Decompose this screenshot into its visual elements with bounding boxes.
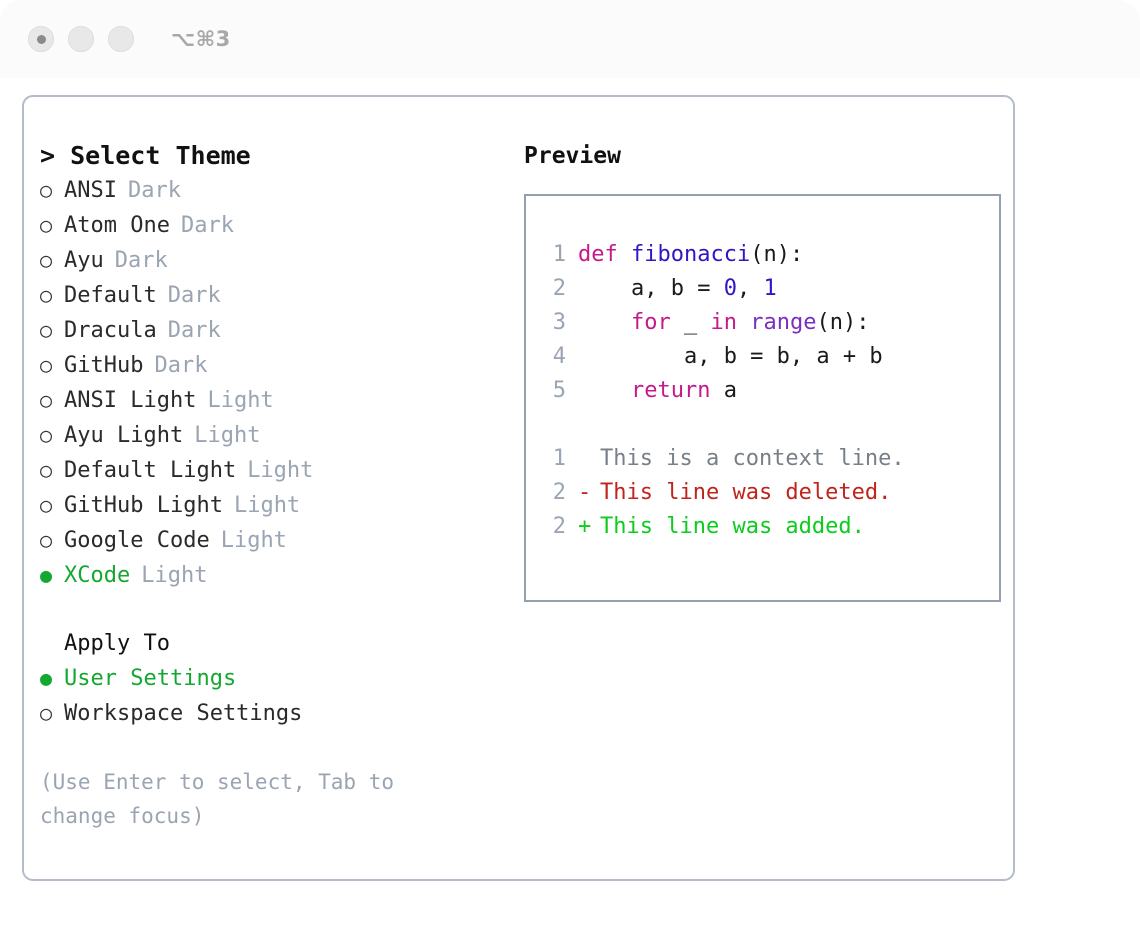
radio-unselected-icon[interactable]: ○	[40, 208, 64, 242]
code-token-num: 1	[763, 276, 776, 301]
code-sample: 1def fibonacci(n):2 a, b = 0, 13 for _ i…	[538, 238, 999, 408]
code-token-num: 0	[724, 276, 737, 301]
theme-category-label: Light	[207, 384, 273, 418]
code-line-content: for _ in range(n):	[578, 306, 869, 340]
plain-dot-icon-2[interactable]	[68, 26, 94, 52]
code-token-fn: fibonacci	[631, 242, 750, 267]
radio-unselected-icon[interactable]: ○	[40, 488, 64, 522]
theme-name-label: ANSI Light	[64, 384, 196, 418]
code-token-plain	[737, 310, 750, 335]
preview-column: Preview 1def fibonacci(n):2 a, b = 0, 13…	[495, 139, 1013, 879]
theme-name-label: GitHub	[64, 349, 143, 383]
theme-category-label: Dark	[154, 349, 207, 383]
theme-option-row[interactable]: ○DraculaDark	[40, 313, 495, 348]
code-line-content: return a	[578, 374, 737, 408]
code-line: 5 return a	[538, 374, 999, 408]
diff-line-text: This is a context line.	[600, 442, 905, 476]
diff-line: 1 This is a context line.	[538, 442, 999, 476]
diff-line: 2+This line was added.	[538, 510, 999, 544]
window-controls	[28, 26, 134, 52]
theme-option-row[interactable]: ○Google CodeLight	[40, 523, 495, 558]
theme-option-row[interactable]: ○GitHubDark	[40, 348, 495, 383]
theme-name-label: ANSI	[64, 174, 117, 208]
theme-selector-column: > Select Theme ○ANSIDark○Atom OneDark○Ay…	[40, 139, 495, 879]
theme-name-label: Ayu Light	[64, 419, 183, 453]
code-token-plain: ,	[737, 276, 764, 301]
theme-option-row[interactable]: ○Ayu LightLight	[40, 418, 495, 453]
code-line-number: 3	[538, 306, 566, 340]
theme-name-label: Google Code	[64, 524, 210, 558]
diff-line-number: 2	[538, 510, 566, 544]
code-line: 1def fibonacci(n):	[538, 238, 999, 272]
code-token-kw: def	[578, 242, 631, 267]
theme-option-row[interactable]: ○GitHub LightLight	[40, 488, 495, 523]
radio-unselected-icon[interactable]: ○	[40, 383, 64, 417]
apply-to-heading: Apply To	[40, 627, 495, 661]
code-line-content: a, b = 0, 1	[578, 272, 777, 306]
diff-sample: 1 This is a context line.2-This line was…	[538, 442, 999, 544]
code-line-content: a, b = b, a + b	[578, 340, 883, 374]
theme-option-row[interactable]: ○Atom OneDark	[40, 208, 495, 243]
code-line-number: 2	[538, 272, 566, 306]
radio-unselected-icon[interactable]: ○	[40, 418, 64, 452]
theme-option-row[interactable]: ○AyuDark	[40, 243, 495, 278]
theme-option-row[interactable]: ○ANSI LightLight	[40, 383, 495, 418]
code-line: 2 a, b = 0, 1	[538, 272, 999, 306]
plain-dot-icon-3[interactable]	[108, 26, 134, 52]
radio-unselected-icon[interactable]: ○	[40, 348, 64, 382]
code-line-number: 5	[538, 374, 566, 408]
record-dot-inner-icon	[37, 35, 46, 44]
diff-marker	[578, 442, 600, 476]
record-dot-icon[interactable]	[28, 26, 54, 52]
app-window: ⌥⌘3 > Select Theme ○ANSIDark○Atom OneDar…	[0, 0, 1140, 934]
radio-unselected-icon[interactable]: ○	[40, 313, 64, 347]
radio-unselected-icon[interactable]: ○	[40, 696, 64, 730]
theme-name-label: XCode	[64, 559, 130, 593]
radio-selected-icon[interactable]: ●	[40, 558, 64, 592]
theme-name-label: Ayu	[64, 244, 104, 278]
theme-category-label: Light	[221, 524, 287, 558]
preview-box: 1def fibonacci(n):2 a, b = 0, 13 for _ i…	[524, 194, 1001, 602]
apply-to-list: ●User Settings○Workspace Settings	[40, 661, 495, 731]
keyboard-hint-text: (Use Enter to select, Tab to change focu…	[40, 765, 440, 833]
code-token-kw: for	[631, 310, 671, 335]
preview-heading: Preview	[524, 139, 1013, 173]
theme-option-row[interactable]: ●XCodeLight	[40, 558, 495, 593]
apply-to-label: Workspace Settings	[64, 697, 302, 731]
theme-category-label: Light	[247, 454, 313, 488]
code-diff-spacer	[538, 408, 999, 442]
code-token-plain: a	[710, 378, 737, 403]
theme-category-label: Light	[194, 419, 260, 453]
theme-name-label: Default	[64, 279, 157, 313]
theme-category-label: Dark	[168, 314, 221, 348]
theme-category-label: Light	[234, 489, 300, 523]
code-token-cls: range	[750, 310, 816, 335]
code-line-number: 4	[538, 340, 566, 374]
theme-category-label: Dark	[168, 279, 221, 313]
code-token-plain: _	[671, 310, 711, 335]
radio-unselected-icon[interactable]: ○	[40, 173, 64, 207]
code-token-plain	[578, 378, 631, 403]
apply-to-label: User Settings	[64, 662, 236, 696]
code-line-content: def fibonacci(n):	[578, 238, 803, 272]
code-line: 4 a, b = b, a + b	[538, 340, 999, 374]
diff-marker: +	[578, 510, 600, 544]
theme-name-label: Atom One	[64, 209, 170, 243]
select-theme-heading: > Select Theme	[40, 139, 495, 173]
theme-category-label: Dark	[128, 174, 181, 208]
theme-name-label: GitHub Light	[64, 489, 223, 523]
apply-to-option-row[interactable]: ○Workspace Settings	[40, 696, 495, 731]
keyboard-shortcut-label: ⌥⌘3	[171, 27, 231, 51]
radio-selected-icon[interactable]: ●	[40, 661, 64, 695]
radio-unselected-icon[interactable]: ○	[40, 243, 64, 277]
code-token-plain: a, b = b, a + b	[578, 344, 883, 369]
theme-name-label: Dracula	[64, 314, 157, 348]
title-bar: ⌥⌘3	[0, 0, 1140, 78]
main-panel: > Select Theme ○ANSIDark○Atom OneDark○Ay…	[22, 95, 1015, 881]
diff-line-number: 1	[538, 442, 566, 476]
theme-option-row[interactable]: ○DefaultDark	[40, 278, 495, 313]
theme-option-row[interactable]: ○ANSIDark	[40, 173, 495, 208]
diff-line-text: This line was added.	[600, 510, 865, 544]
theme-category-label: Dark	[181, 209, 234, 243]
code-token-kw: return	[631, 378, 710, 403]
theme-list: ○ANSIDark○Atom OneDark○AyuDark○DefaultDa…	[40, 173, 495, 593]
radio-unselected-icon[interactable]: ○	[40, 523, 64, 557]
theme-name-label: Default Light	[64, 454, 236, 488]
code-token-plain	[578, 310, 631, 335]
code-token-plain: (n):	[816, 310, 869, 335]
diff-marker: -	[578, 476, 600, 510]
apply-to-option-row[interactable]: ●User Settings	[40, 661, 495, 696]
radio-unselected-icon[interactable]: ○	[40, 278, 64, 312]
code-line-number: 1	[538, 238, 566, 272]
diff-line-number: 2	[538, 476, 566, 510]
diff-line: 2-This line was deleted.	[538, 476, 999, 510]
code-token-plain: a, b =	[578, 276, 724, 301]
radio-unselected-icon[interactable]: ○	[40, 453, 64, 487]
code-line: 3 for _ in range(n):	[538, 306, 999, 340]
theme-category-label: Dark	[115, 244, 168, 278]
theme-option-row[interactable]: ○Default LightLight	[40, 453, 495, 488]
theme-category-label: Light	[141, 559, 207, 593]
code-token-kw: in	[710, 310, 737, 335]
diff-line-text: This line was deleted.	[600, 476, 891, 510]
code-token-plain: (n):	[750, 242, 803, 267]
